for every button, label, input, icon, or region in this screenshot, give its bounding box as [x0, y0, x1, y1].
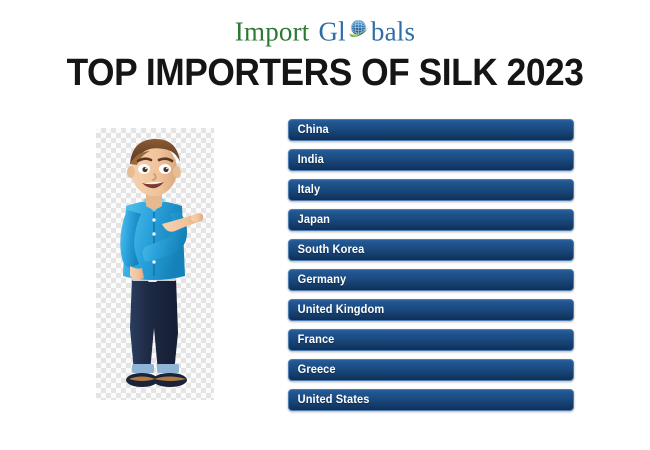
list-item[interactable]: India [288, 149, 574, 171]
country-label: India [289, 154, 324, 166]
list-item[interactable]: Japan [288, 209, 574, 231]
country-label: China [289, 124, 329, 136]
list-item[interactable]: Italy [288, 179, 574, 201]
jeans [130, 278, 178, 372]
country-label: France [289, 334, 334, 346]
brand-logo: ImportGl [0, 16, 650, 45]
country-label: United Kingdom [289, 304, 384, 316]
list-item[interactable]: United States [288, 389, 574, 411]
globe-icon [346, 16, 371, 41]
brand-word-globals-suffix: bals [371, 16, 415, 46]
brand-word-globals-prefix: Gl [318, 16, 345, 46]
country-label: Italy [289, 184, 320, 196]
right-cuff [157, 364, 179, 373]
list-item[interactable]: Germany [288, 269, 574, 291]
list-item[interactable]: South Korea [288, 239, 574, 261]
country-label: Germany [289, 274, 346, 286]
page-title: TOP IMPORTERS OF SILK 2023 [23, 52, 628, 95]
country-ranking-list: China India Italy Japan South Korea Germ… [288, 119, 574, 419]
country-label: South Korea [289, 244, 364, 256]
list-item[interactable]: China [288, 119, 574, 141]
country-label: Japan [289, 214, 330, 226]
list-item[interactable]: France [288, 329, 574, 351]
brand-word-import: Import [235, 16, 310, 46]
list-item[interactable]: United Kingdom [288, 299, 574, 321]
left-cuff [132, 364, 154, 373]
pointing-man-illustration [96, 128, 214, 400]
country-label: United States [289, 394, 369, 406]
illustration-panel [96, 128, 214, 400]
infographic-canvas: ImportGl [0, 0, 650, 450]
list-item[interactable]: Greece [288, 359, 574, 381]
country-label: Greece [289, 364, 336, 376]
